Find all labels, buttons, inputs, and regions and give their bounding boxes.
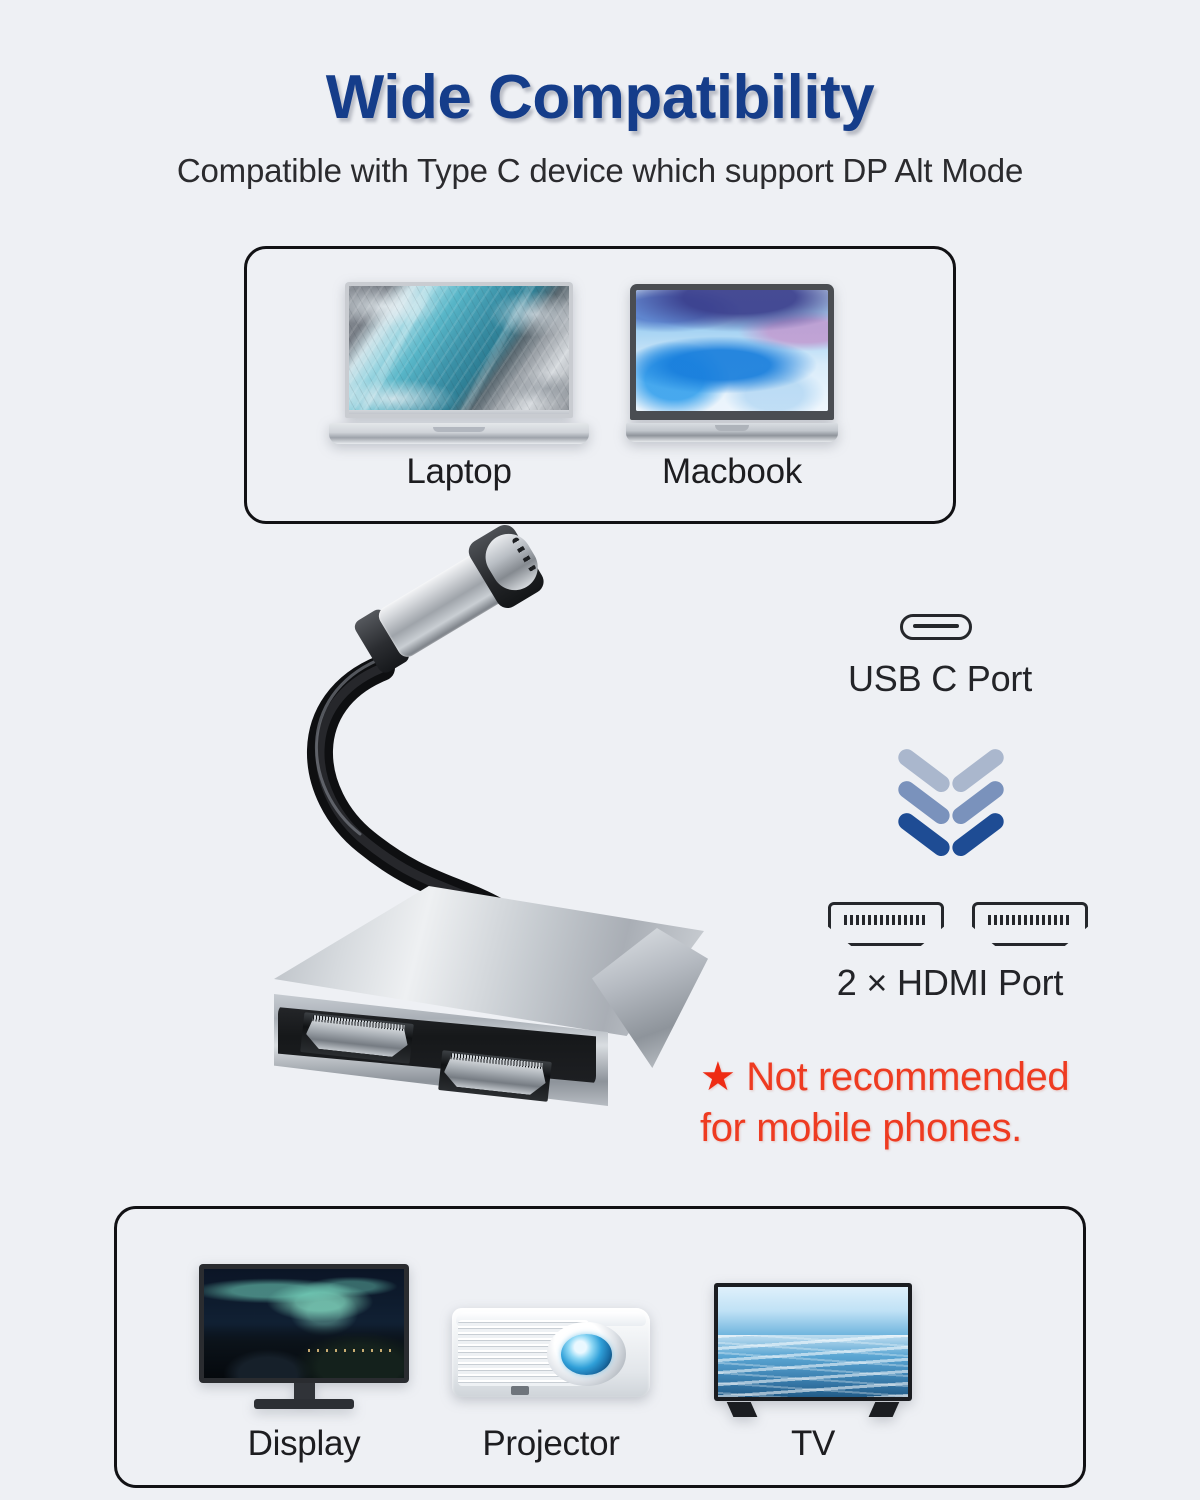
infographic-page: Wide Compatibility Compatible with Type …	[0, 0, 1200, 1500]
projector-foot	[511, 1386, 529, 1395]
monitor-stand	[254, 1399, 355, 1410]
laptop-wallpaper	[349, 286, 569, 414]
macbook-lid	[630, 284, 834, 420]
monitor-wallpaper	[204, 1269, 404, 1378]
monitor-screen	[204, 1269, 404, 1378]
macbook-base	[626, 423, 838, 442]
projector-body	[452, 1308, 650, 1397]
projector-icon	[452, 1296, 650, 1416]
tv-bezel	[714, 1283, 912, 1401]
tv-leg-left	[727, 1402, 757, 1417]
usb-c-port-label: USB C Port	[760, 658, 1120, 700]
monitor-bezel	[199, 1264, 409, 1383]
tv-leg-right	[869, 1402, 899, 1417]
macbook-screen	[636, 290, 828, 411]
usb-c-icon-bar	[913, 624, 959, 628]
laptop-chin	[349, 410, 569, 414]
hdmi-icon-2-pins	[988, 915, 1072, 925]
warning-line-2: for mobile phones.	[700, 1106, 1022, 1150]
display-label: Display	[199, 1424, 409, 1464]
adapter-product-image	[262, 556, 722, 1186]
monitor-icon	[199, 1264, 409, 1416]
projector-lens	[561, 1334, 612, 1375]
hdmi-port-icon-2	[972, 902, 1088, 946]
laptop-icon: DELL	[345, 282, 573, 444]
macbook-wallpaper	[636, 290, 828, 411]
tv-label: TV	[714, 1424, 912, 1464]
tv-wallpaper	[718, 1287, 908, 1397]
chevron-down-icon-3	[898, 802, 1004, 846]
hdmi-icon-1-pins	[844, 915, 928, 925]
warning-line-1: Not recommended	[746, 1055, 1069, 1099]
macbook-icon	[626, 284, 838, 442]
laptop-base	[329, 423, 589, 444]
laptop-screen	[349, 286, 569, 414]
tv-screen	[718, 1287, 908, 1397]
hdmi-port-icon-1	[828, 902, 944, 946]
adapter-body	[262, 886, 722, 1186]
monitor-city-lights	[308, 1349, 396, 1352]
tv-icon	[714, 1283, 912, 1417]
macbook-label: Macbook	[620, 452, 844, 492]
laptop-lid	[345, 282, 573, 418]
projector-lens-ring	[547, 1322, 626, 1386]
laptop-label: Laptop	[345, 452, 573, 492]
flow-arrows	[898, 738, 1010, 858]
page-subtitle: Compatible with Type C device which supp…	[0, 152, 1200, 190]
monitor-neck	[294, 1383, 315, 1400]
hdmi-port-label: 2 × HDMI Port	[750, 962, 1150, 1004]
page-title: Wide Compatibility	[0, 62, 1200, 133]
projector-label: Projector	[452, 1424, 650, 1464]
hdmi-port-icon	[828, 902, 1088, 950]
usb-c-port-icon	[900, 614, 972, 640]
star-icon: ★	[700, 1055, 735, 1099]
warning-note: ★ Not recommended for mobile phones.	[700, 1052, 1190, 1154]
